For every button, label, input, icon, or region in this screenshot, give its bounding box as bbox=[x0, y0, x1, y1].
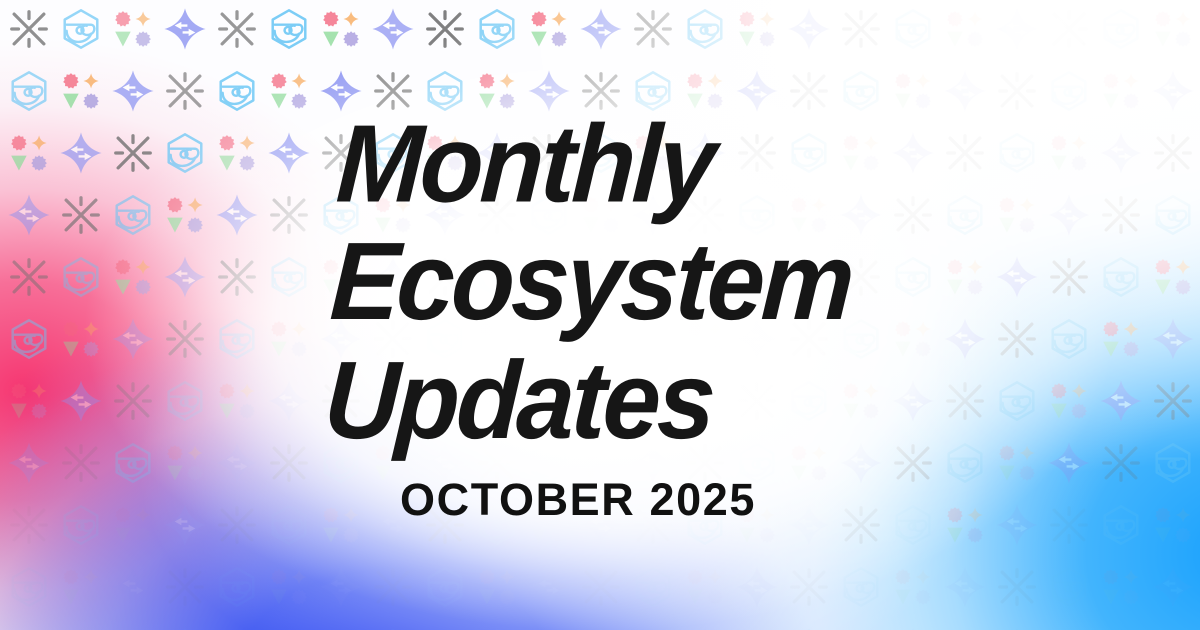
title-line-3: Updates bbox=[321, 342, 848, 460]
ecosystem-updates-banner: Monthly Ecosystem Updates OCTOBER 2025 bbox=[0, 0, 1200, 630]
title-line-2: Ecosystem bbox=[328, 224, 855, 342]
page-subtitle: OCTOBER 2025 bbox=[400, 474, 756, 526]
page-title: Monthly Ecosystem Updates bbox=[321, 106, 860, 460]
banner-content: Monthly Ecosystem Updates OCTOBER 2025 bbox=[0, 0, 1200, 630]
title-line-1: Monthly bbox=[334, 106, 861, 224]
